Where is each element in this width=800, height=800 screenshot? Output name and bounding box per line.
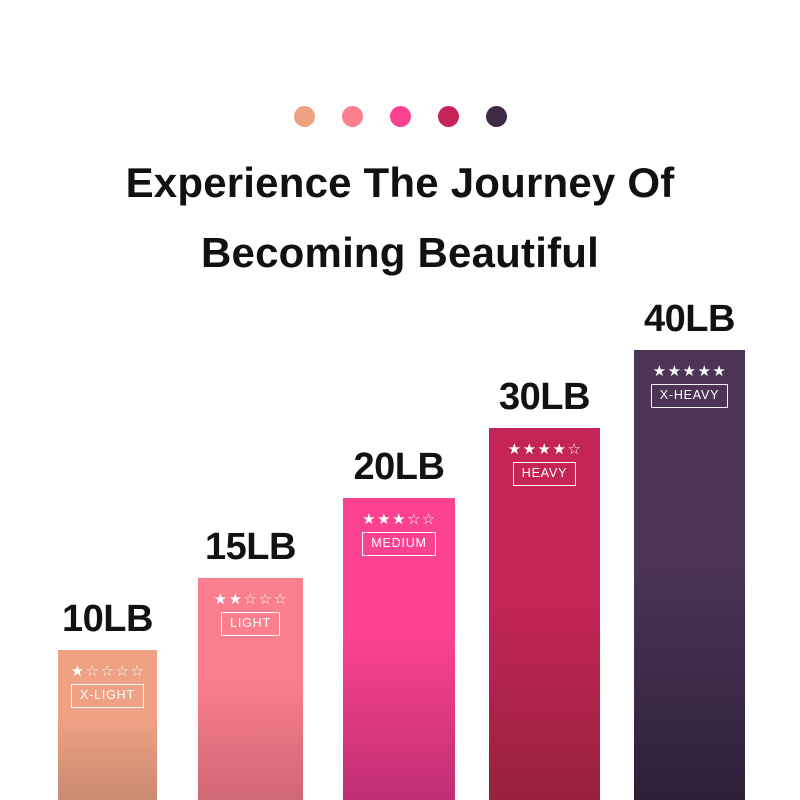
bar-group-15lb[interactable]: 15LB★★☆☆☆LIGHT xyxy=(198,524,303,800)
bar-weight-label: 30LB xyxy=(489,378,600,416)
star-empty-icon: ☆ xyxy=(130,664,144,679)
star-filled-icon: ★ xyxy=(653,364,667,379)
bar-meta: ★★★★★X-HEAVY xyxy=(634,364,745,408)
level-badge: LIGHT xyxy=(221,612,280,636)
bar-meta: ★★★★☆HEAVY xyxy=(489,442,600,486)
star-empty-icon: ☆ xyxy=(101,664,115,679)
star-empty-icon: ☆ xyxy=(115,664,129,679)
bar-weight-label: 40LB xyxy=(634,300,745,338)
star-empty-icon: ☆ xyxy=(407,512,421,527)
level-badge: X-HEAVY xyxy=(651,384,729,408)
star-filled-icon: ★ xyxy=(712,364,726,379)
bar-column[interactable]: ★★★★☆HEAVY xyxy=(489,428,600,800)
star-filled-icon: ★ xyxy=(214,592,228,607)
star-rating: ★★☆☆☆ xyxy=(214,592,288,607)
bar-meta: ★★☆☆☆LIGHT xyxy=(198,592,303,636)
star-rating: ★★★★☆ xyxy=(508,442,582,457)
star-filled-icon: ★ xyxy=(697,364,711,379)
star-filled-icon: ★ xyxy=(683,364,697,379)
star-filled-icon: ★ xyxy=(377,512,391,527)
bar-group-10lb[interactable]: 10LB★☆☆☆☆X-LIGHT xyxy=(58,596,157,800)
level-badge: MEDIUM xyxy=(362,532,436,556)
star-filled-icon: ★ xyxy=(362,512,376,527)
star-empty-icon: ☆ xyxy=(273,592,287,607)
bar-column[interactable]: ★★☆☆☆LIGHT xyxy=(198,578,303,800)
level-badge: HEAVY xyxy=(513,462,576,486)
bar-weight-label: 15LB xyxy=(198,528,303,566)
star-filled-icon: ★ xyxy=(229,592,243,607)
bar-column[interactable]: ★★★☆☆MEDIUM xyxy=(343,498,455,800)
star-empty-icon: ☆ xyxy=(567,442,581,457)
star-filled-icon: ★ xyxy=(552,442,566,457)
bar-column[interactable]: ★☆☆☆☆X-LIGHT xyxy=(58,650,157,800)
star-filled-icon: ★ xyxy=(523,442,537,457)
bar-group-20lb[interactable]: 20LB★★★☆☆MEDIUM xyxy=(343,444,455,800)
star-rating: ★☆☆☆☆ xyxy=(71,664,145,679)
star-empty-icon: ☆ xyxy=(422,512,436,527)
star-empty-icon: ☆ xyxy=(244,592,258,607)
star-empty-icon: ☆ xyxy=(258,592,272,607)
star-filled-icon: ★ xyxy=(392,512,406,527)
bar-gradient-fill xyxy=(634,350,745,800)
star-filled-icon: ★ xyxy=(668,364,682,379)
bar-group-30lb[interactable]: 30LB★★★★☆HEAVY xyxy=(489,374,600,800)
star-filled-icon: ★ xyxy=(538,442,552,457)
resistance-band-bar-chart: 10LB★☆☆☆☆X-LIGHT15LB★★☆☆☆LIGHT20LB★★★☆☆M… xyxy=(0,0,800,800)
level-badge: X-LIGHT xyxy=(71,684,144,708)
bar-group-40lb[interactable]: 40LB★★★★★X-HEAVY xyxy=(634,296,745,800)
bar-weight-label: 10LB xyxy=(58,600,157,638)
bar-weight-label: 20LB xyxy=(343,448,455,486)
bar-column[interactable]: ★★★★★X-HEAVY xyxy=(634,350,745,800)
star-empty-icon: ☆ xyxy=(86,664,100,679)
bar-meta: ★★★☆☆MEDIUM xyxy=(343,512,455,556)
star-filled-icon: ★ xyxy=(508,442,522,457)
star-rating: ★★★★★ xyxy=(653,364,727,379)
promo-infographic: Experience The Journey Of Becoming Beaut… xyxy=(0,0,800,800)
star-filled-icon: ★ xyxy=(71,664,85,679)
star-rating: ★★★☆☆ xyxy=(362,512,436,527)
bar-meta: ★☆☆☆☆X-LIGHT xyxy=(58,664,157,708)
